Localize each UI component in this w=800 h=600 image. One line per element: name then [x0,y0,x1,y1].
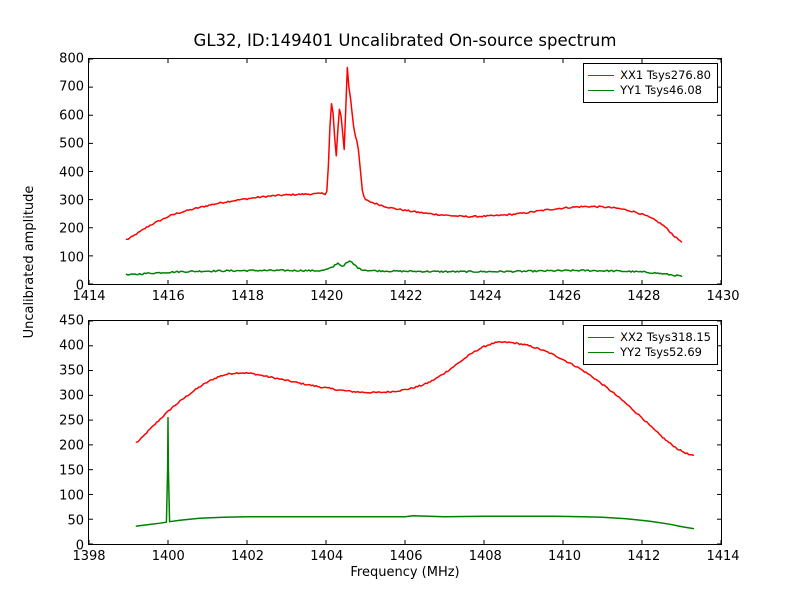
top-x-tick-label: 1422 [389,289,422,304]
legend-item: YY1 Tsys46.08 [588,83,711,98]
top-y-tick-label: 700 [59,80,84,95]
top-x-tick-label: 1420 [310,289,343,304]
bottom-y-tick-label: 250 [59,414,84,429]
y-axis-label: Uncalibrated amplitude [22,162,37,362]
bottom-x-tick-label: 1402 [231,549,264,564]
top-y-tick-label: 300 [59,193,84,208]
bottom-x-tick-label: 1400 [152,549,185,564]
bottom-y-tick-label: 450 [59,314,84,329]
legend-item: XX2 Tsys318.15 [588,330,711,345]
bottom-x-tick-label: 1412 [627,549,660,564]
figure-canvas: GL32, ID:149401 Uncalibrated On-source s… [0,0,800,600]
plot-panel-bottom: XX2 Tsys318.15 YY2 Tsys52.69 13981400140… [88,320,722,545]
legend-bottom: XX2 Tsys318.15 YY2 Tsys52.69 [583,325,718,365]
bottom-y-tick-label: 400 [59,339,84,354]
top-y-tick-label: 600 [59,108,84,123]
top-x-tick-label: 1430 [706,289,739,304]
bottom-y-tick-label: 100 [59,489,84,504]
bottom-y-tick-label: 200 [59,439,84,454]
legend-label-yy2: YY2 Tsys52.69 [620,345,702,360]
legend-top: XX1 Tsys276.80 YY1 Tsys46.08 [583,63,718,103]
top-x-tick-label: 1416 [152,289,185,304]
bottom-x-tick-label: 1404 [310,549,343,564]
top-y-tick-label: 100 [59,250,84,265]
top-x-tick-label: 1418 [231,289,264,304]
legend-item: YY2 Tsys52.69 [588,345,711,360]
top-x-tick-label: 1424 [469,289,502,304]
bottom-x-tick-label: 1410 [548,549,581,564]
top-y-tick-label: 0 [76,279,84,294]
legend-swatch-xx1 [588,75,614,76]
top-y-tick-label: 800 [59,52,84,67]
bottom-y-tick-label: 50 [67,514,84,529]
bottom-x-tick-label: 1414 [706,549,739,564]
bottom-x-tick-label: 1408 [469,549,502,564]
legend-item: XX1 Tsys276.80 [588,68,711,83]
series-line-yy1 [127,261,682,276]
series-line-yy2 [136,418,693,529]
bottom-x-tick-label: 1406 [389,549,422,564]
bottom-y-tick-label: 0 [76,539,84,554]
legend-swatch-yy2 [588,352,614,353]
top-y-tick-label: 400 [59,165,84,180]
bottom-y-tick-label: 300 [59,389,84,404]
top-y-tick-label: 500 [59,137,84,152]
legend-swatch-yy1 [588,90,614,91]
x-axis-label: Frequency (MHz) [88,565,722,580]
bottom-y-tick-label: 350 [59,364,84,379]
top-x-tick-label: 1428 [627,289,660,304]
plot-panel-top: XX1 Tsys276.80 YY1 Tsys46.08 14141416141… [88,58,722,285]
legend-label-xx1: XX1 Tsys276.80 [620,68,711,83]
legend-label-yy1: YY1 Tsys46.08 [620,83,702,98]
bottom-y-tick-label: 150 [59,464,84,479]
legend-label-xx2: XX2 Tsys318.15 [620,330,711,345]
page-title: GL32, ID:149401 Uncalibrated On-source s… [88,31,722,50]
top-y-tick-label: 200 [59,222,84,237]
legend-swatch-xx2 [588,337,614,338]
top-x-tick-label: 1426 [548,289,581,304]
